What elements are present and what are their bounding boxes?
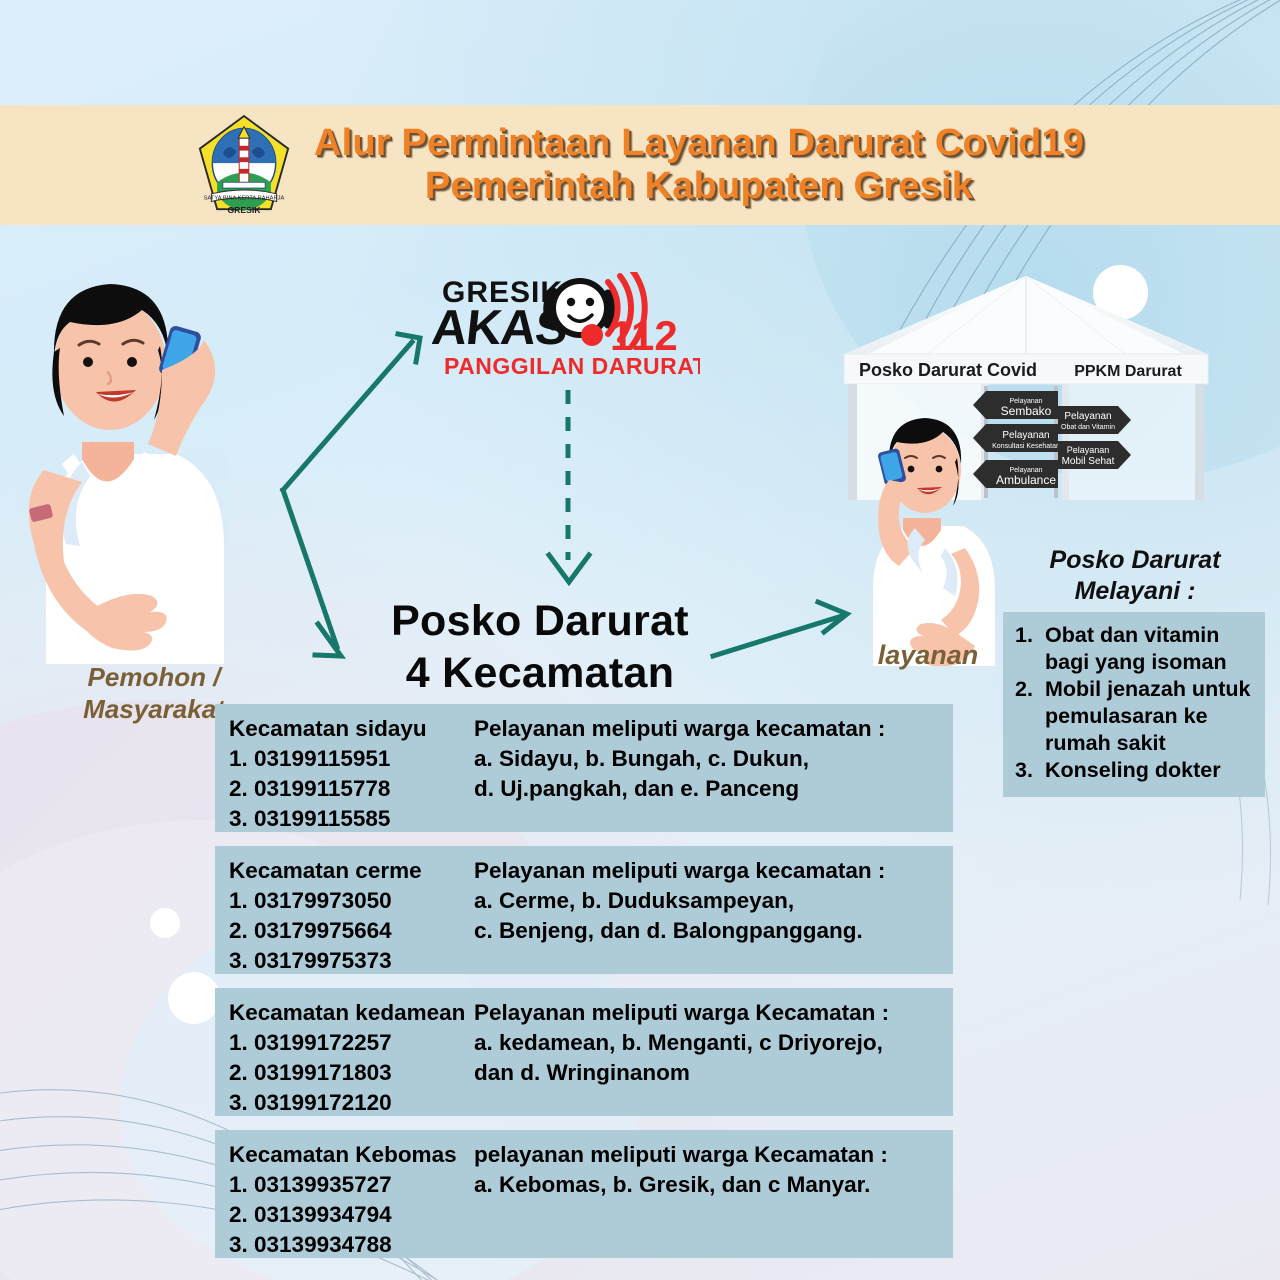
melayani-item-number: 2. [1015, 676, 1045, 703]
table-row: Kecamatan cerme 1. 03179973050 2. 031799… [215, 846, 953, 974]
melayani-item-number: 3. [1015, 757, 1045, 784]
kecamatan-coverage-cell: Pelayanan meliputi warga Kecamatan : a. … [470, 998, 953, 1104]
melayani-title-line2: Melayani : [1005, 576, 1265, 607]
header: SATYA BINA KERTA RAHARJA GRESIK Alur Per… [0, 105, 1280, 225]
kecamatan-phone: 1. 03179973050 [229, 886, 470, 916]
coverage-line: a. Cerme, b. Duduksampeyan, [474, 886, 943, 916]
svg-text:SATYA BINA KERTA RAHARJA: SATYA BINA KERTA RAHARJA [204, 196, 285, 202]
caller-illustration-left [0, 244, 254, 664]
kecamatan-contact-cell: Kecamatan cerme 1. 03179973050 2. 031799… [215, 856, 470, 962]
kecamatan-phone: 3. 03139934788 [229, 1230, 470, 1260]
logo-112-text: 112 [610, 312, 678, 359]
decor-dot-2 [150, 908, 180, 938]
coverage-line: c. Benjeng, dan d. Balongpanggang. [474, 916, 943, 946]
crest-label: GRESIK [227, 205, 261, 215]
coverage-line: dan d. Wringinanom [474, 1058, 943, 1088]
kecamatan-phone: 2. 03179975664 [229, 916, 470, 946]
coverage-line: Pelayanan meliputi warga Kecamatan : [474, 998, 943, 1028]
posko-heading-line1: Posko Darurat [330, 595, 750, 647]
kecamatan-phone: 1. 03139935727 [229, 1170, 470, 1200]
caller-illustration-right [845, 398, 1013, 666]
coverage-line: a. kedamean, b. Menganti, c Driyorejo, [474, 1028, 943, 1058]
coverage-line: a. Kebomas, b. Gresik, dan c Manyar. [474, 1170, 943, 1200]
melayani-list: 1.Obat dan vitamin bagi yang isoman 2.Mo… [1015, 622, 1257, 784]
coverage-line: Pelayanan meliputi warga kecamatan : [474, 856, 943, 886]
kecamatan-name: Kecamatan kedamean [229, 998, 470, 1028]
decor-dot-3 [168, 972, 220, 1024]
tent-sign-obat-vitamin: Pelayanan Obat dan Vitamin [1058, 406, 1131, 434]
kecamatan-phone: 2. 03139934794 [229, 1200, 470, 1230]
tent-banner-left-text: Posko Darurat Covid [859, 360, 1037, 380]
kecamatan-coverage-cell: Pelayanan meliputi warga kecamatan : a. … [470, 856, 953, 962]
kecamatan-name: Kecamatan sidayu [229, 714, 470, 744]
melayani-item-text: Konseling dokter [1045, 758, 1221, 782]
label-pemohon-line1: Pemohon / [44, 662, 264, 694]
svg-text:Pelayanan: Pelayanan [1067, 445, 1110, 455]
coverage-line: d. Uj.pangkah, dan e. Panceng [474, 774, 943, 804]
coverage-line: a. Sidayu, b. Bungah, c. Dukun, [474, 744, 943, 774]
logo-tagline-text: PANGGILAN DARURAT [444, 353, 700, 379]
melayani-list-box: 1.Obat dan vitamin bagi yang isoman 2.Mo… [1003, 612, 1265, 797]
kecamatan-phone: 3. 03199115585 [229, 804, 470, 834]
melayani-item-number: 1. [1015, 622, 1045, 649]
tent-sign-mobil-sehat: Pelayanan Mobil Sehat [1058, 441, 1131, 469]
kecamatan-phone: 3. 03179975373 [229, 946, 470, 976]
kecamatan-contact-cell: Kecamatan kedamean 1. 03199172257 2. 031… [215, 998, 470, 1104]
gresik-akas-112-logo: GRESIK AKAS 112 PANGGILAN DARURAT [432, 272, 700, 382]
melayani-item: 1.Obat dan vitamin bagi yang isoman [1015, 622, 1257, 675]
coverage-line: pelayanan meliputi warga Kecamatan : [474, 1140, 943, 1170]
kecamatan-coverage-cell: pelayanan meliputi warga Kecamatan : a. … [470, 1140, 953, 1246]
kecamatan-contact-cell: Kecamatan sidayu 1. 03199115951 2. 03199… [215, 714, 470, 820]
kecamatan-phone: 2. 03199115778 [229, 774, 470, 804]
title-line-1: Alur Permintaan Layanan Darurat Covid19 [314, 122, 1084, 165]
kecamatan-phone: 1. 03199172257 [229, 1028, 470, 1058]
svg-text:Mobil Sehat: Mobil Sehat [1062, 456, 1115, 467]
melayani-item-text: Obat dan vitamin bagi yang isoman [1045, 623, 1227, 674]
table-row: Kecamatan kedamean 1. 03199172257 2. 031… [215, 988, 953, 1116]
table-row: Kecamatan sidayu 1. 03199115951 2. 03199… [215, 704, 953, 832]
melayani-item-text: Mobil jenazah untuk pemulasaran ke rumah… [1045, 677, 1250, 754]
kecamatan-contact-cell: Kecamatan Kebomas 1. 03139935727 2. 0313… [215, 1140, 470, 1246]
kecamatan-phone: 2. 03199171803 [229, 1058, 470, 1088]
gresik-crest-icon: SATYA BINA KERTA RAHARJA GRESIK [196, 113, 292, 217]
melayani-title-line1: Posko Darurat [1005, 545, 1265, 576]
melayani-title: Posko Darurat Melayani : [1005, 545, 1265, 608]
melayani-item: 3.Konseling dokter [1015, 757, 1257, 784]
kecamatan-phone: 3. 03199172120 [229, 1088, 470, 1118]
kecamatan-coverage-cell: Pelayanan meliputi warga kecamatan : a. … [470, 714, 953, 820]
table-row: Kecamatan Kebomas 1. 03139935727 2. 0313… [215, 1130, 953, 1258]
label-layanan: layanan [848, 640, 1008, 671]
kecamatan-phone: 1. 03199115951 [229, 744, 470, 774]
svg-text:Pelayanan: Pelayanan [1064, 411, 1111, 422]
kecamatan-name: Kecamatan cerme [229, 856, 470, 886]
title-line-2: Pemerintah Kabupaten Gresik [314, 165, 1084, 208]
page-title: Alur Permintaan Layanan Darurat Covid19 … [314, 122, 1084, 207]
posko-darurat-heading: Posko Darurat 4 Kecamatan [330, 595, 750, 700]
svg-text:Obat dan Vitamin: Obat dan Vitamin [1061, 424, 1115, 431]
posko-heading-line2: 4 Kecamatan [330, 647, 750, 699]
tent-banner-right-text: PPKM Darurat [1074, 363, 1182, 380]
infographic-canvas: SATYA BINA KERTA RAHARJA GRESIK Alur Per… [0, 0, 1280, 1280]
coverage-line: Pelayanan meliputi warga kecamatan : [474, 714, 943, 744]
kecamatan-name: Kecamatan Kebomas [229, 1140, 470, 1170]
melayani-item: 2.Mobil jenazah untuk pemulasaran ke rum… [1015, 676, 1257, 756]
